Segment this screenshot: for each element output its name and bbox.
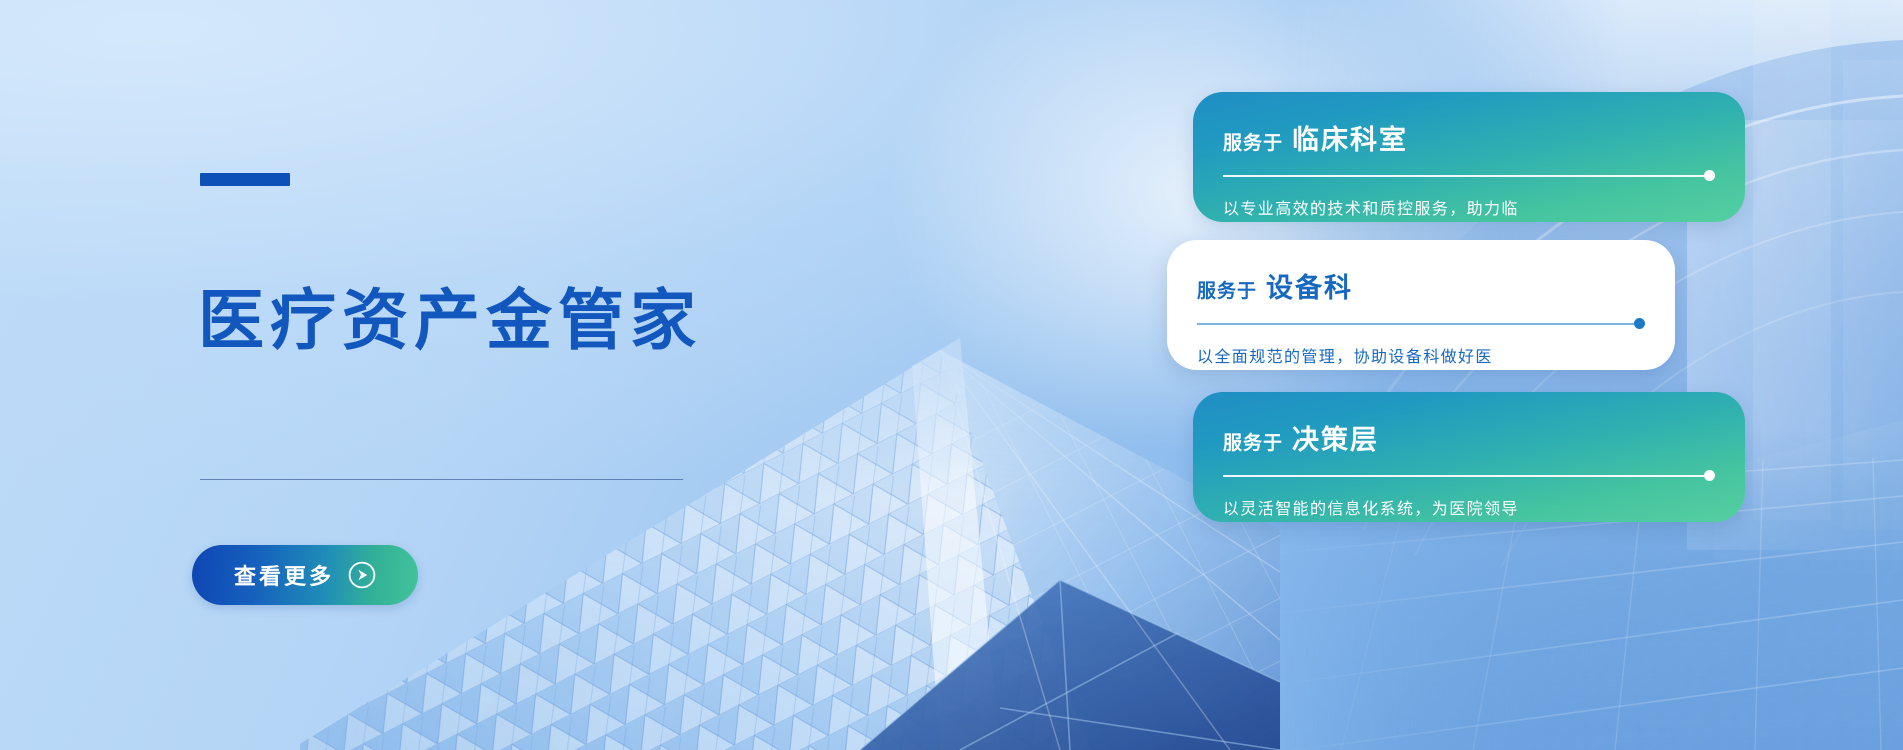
view-more-button[interactable]: 查看更多 (192, 545, 418, 605)
card-title: 服务于 决策层 (1223, 418, 1715, 457)
card-separator (1223, 170, 1715, 181)
card-separator (1197, 318, 1645, 329)
card-prefix: 服务于 (1223, 428, 1283, 455)
card-body-line1: 以灵活智能的信息化系统，为医院领导 (1223, 494, 1715, 522)
accent-dash (200, 173, 290, 186)
view-more-label: 查看更多 (234, 559, 334, 591)
hero-banner: 医疗资产金管家 查看更多 服务于 临床科室 以专业高效的技术和质控服务，助力临 … (0, 0, 1903, 750)
service-card-decision[interactable]: 服务于 决策层 以灵活智能的信息化系统，为医院领导 提供全院医疗设备的 大数据支… (1193, 392, 1745, 522)
separator-line (1223, 475, 1704, 477)
card-prefix: 服务于 (1197, 276, 1257, 303)
card-prefix: 服务于 (1223, 128, 1283, 155)
service-card-equipment[interactable]: 服务于 设备科 以全面规范的管理，协助设备科做好医 疗设备全生命周期的 规范化管… (1167, 240, 1675, 370)
card-target: 设备科 (1266, 266, 1353, 305)
separator-line (1197, 323, 1634, 325)
separator-dot-icon (1704, 470, 1715, 481)
page-title: 医疗资产金管家 (198, 283, 702, 359)
card-title: 服务于 设备科 (1197, 266, 1645, 305)
card-body: 以灵活智能的信息化系统，为医院领导 提供全院医疗设备的 大数据支持 (1223, 494, 1715, 522)
separator-dot-icon (1634, 318, 1645, 329)
card-title: 服务于 临床科室 (1223, 118, 1715, 157)
separator-dot-icon (1704, 170, 1715, 181)
divider-line (200, 479, 683, 480)
separator-line (1223, 175, 1704, 177)
card-body: 以专业高效的技术和质控服务，助力临 床科室保障医疗设备的 安全有效性 (1223, 194, 1715, 222)
card-body: 以全面规范的管理，协助设备科做好医 疗设备全生命周期的 规范化管理 (1197, 342, 1645, 370)
service-card-clinical[interactable]: 服务于 临床科室 以专业高效的技术和质控服务，助力临 床科室保障医疗设备的 安全… (1193, 92, 1745, 222)
card-separator (1223, 470, 1715, 481)
card-body-line1: 以专业高效的技术和质控服务，助力临 (1223, 194, 1715, 222)
card-target: 临床科室 (1292, 118, 1408, 157)
card-target: 决策层 (1292, 418, 1379, 457)
hero-left-content: 医疗资产金管家 查看更多 (200, 0, 820, 750)
card-body-line1: 以全面规范的管理，协助设备科做好医 (1197, 342, 1645, 370)
arrow-right-circle-icon (348, 561, 376, 589)
